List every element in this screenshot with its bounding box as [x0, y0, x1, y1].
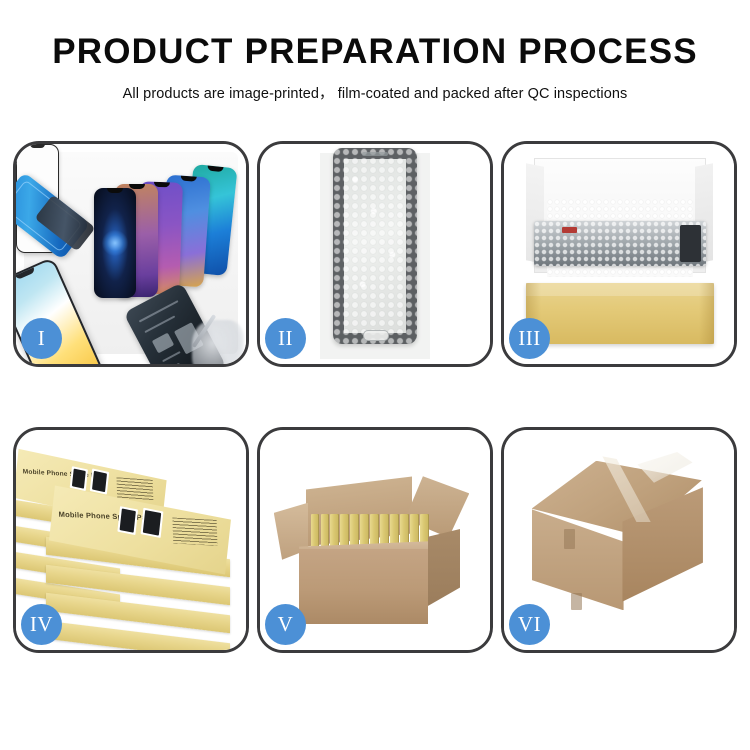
phone-display-1: [94, 188, 136, 298]
process-step-panel-2: II: [257, 141, 493, 367]
bubble-wrapped-screen: [333, 148, 417, 344]
carton-handle-cutout-bottom: [571, 593, 583, 611]
box-label-thumb-rear-2: [90, 468, 109, 494]
page-subtitle: All products are image-printed， film-coa…: [0, 82, 750, 103]
earpiece-slot: [362, 152, 388, 156]
carton-handle-cutout-top: [564, 529, 576, 549]
step-badge-6: VI: [509, 604, 550, 645]
red-marker-label: [562, 227, 577, 233]
process-step-panel-6: VI: [501, 427, 737, 653]
kraft-box-tray: [526, 283, 714, 344]
process-step-grid: I II: [13, 141, 737, 653]
box-label-thumb-rear-1: [70, 466, 88, 491]
page-title: PRODUCT PREPARATION PROCESS: [0, 34, 750, 71]
step-badge-1: I: [21, 318, 62, 359]
page-header: PRODUCT PREPARATION PROCESS All products…: [0, 0, 750, 103]
step-badge-3: III: [509, 318, 550, 359]
carton-side-face: [428, 529, 460, 606]
carton-front-face: [299, 549, 428, 624]
process-step-panel-3: III: [501, 141, 737, 367]
home-button-cutout: [363, 330, 389, 341]
bubble-wrap-texture: [333, 148, 417, 344]
box-label-thumb-front-2: [141, 508, 164, 538]
technician-hand: [192, 320, 244, 364]
packed-screen-in-tray: [534, 221, 705, 266]
step-badge-4: IV: [21, 604, 62, 645]
process-step-panel-4: Mobile Phone Spare Parts Mobile Phone Sp…: [13, 427, 249, 653]
process-step-panel-1: I: [13, 141, 249, 367]
inner-box-assembly: [518, 158, 722, 344]
box-label-speclines-front: [172, 517, 217, 545]
step-badge-2: II: [265, 318, 306, 359]
box-label-thumb-front-1: [117, 506, 138, 535]
process-step-panel-5: V: [257, 427, 493, 653]
step-badge-5: V: [265, 604, 306, 645]
